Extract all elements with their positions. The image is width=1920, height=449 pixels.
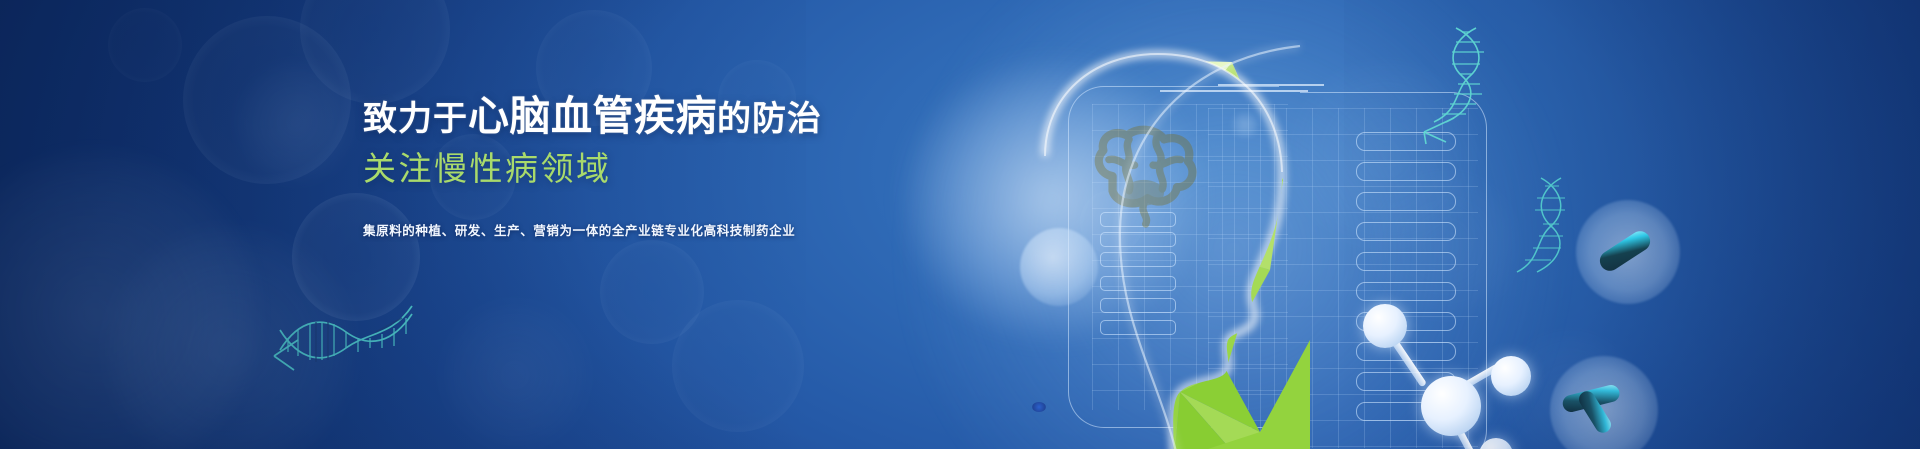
page-tagline: 集原料的种植、研发、生产、营销为一体的全产业链专业化高科技制药企业 — [363, 220, 923, 239]
hero-banner: 致力于心脑血管疾病的防治 关注慢性病领域 集原料的种植、研发、生产、营销为一体的… — [0, 0, 1920, 449]
background-vignette — [0, 0, 1920, 449]
hero-copy: 致力于心脑血管疾病的防治 关注慢性病领域 集原料的种植、研发、生产、营销为一体的… — [363, 95, 923, 239]
headline-prefix: 致力于 — [363, 100, 468, 138]
page-subtitle: 关注慢性病领域 — [363, 149, 923, 189]
headline-emphasis: 心脑血管疾病 — [468, 93, 717, 139]
headline-suffix: 的防治 — [717, 100, 822, 138]
page-title: 致力于心脑血管疾病的防治 — [363, 95, 923, 140]
